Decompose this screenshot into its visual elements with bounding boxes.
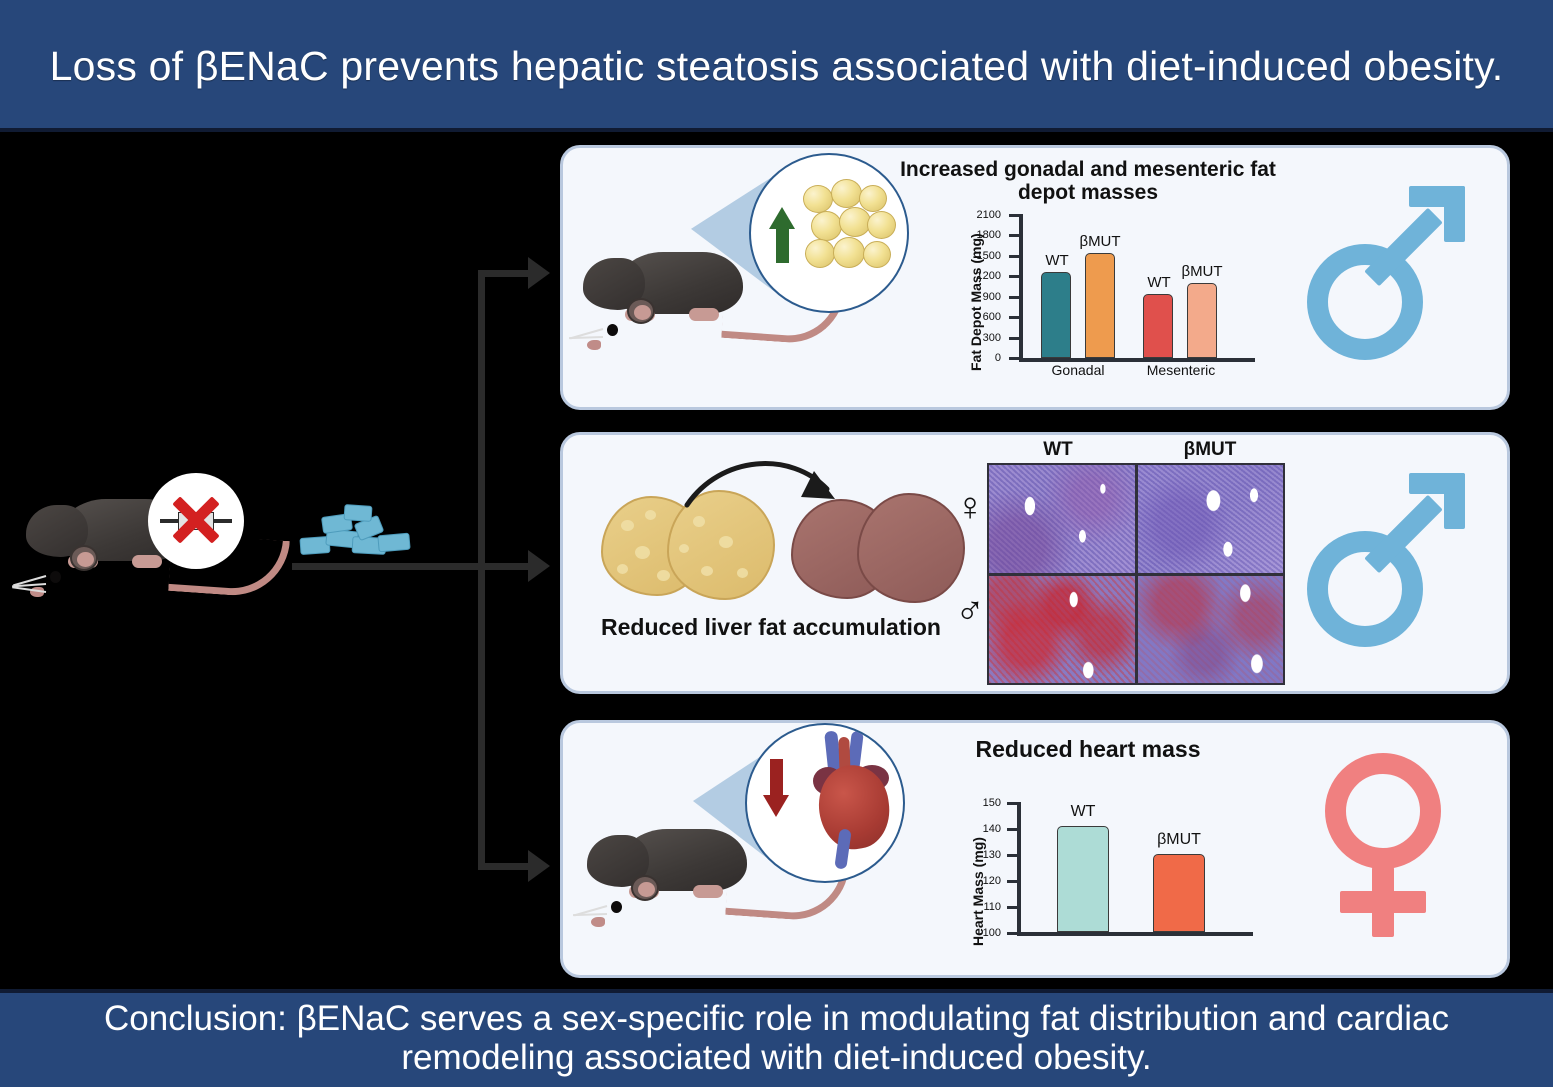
- x-category-label: Mesenteric: [1131, 362, 1231, 378]
- arrow-head-icon: [528, 850, 550, 882]
- heart-illustration-icon: [793, 731, 903, 871]
- y-tick-label: 110: [961, 901, 1001, 913]
- heart-mass-y-axis-title: Heart Mass (mg): [970, 800, 986, 946]
- bar-gonadal-wt: [1041, 272, 1071, 358]
- y-tick-label: 120: [961, 875, 1001, 887]
- high-fat-diet-pellets-icon: [300, 503, 420, 563]
- panel2-caption: Reduced liver fat accumulation: [591, 615, 951, 640]
- y-tick-label: 150: [961, 797, 1001, 809]
- panel-heart-mass: Reduced heart mass: [560, 720, 1510, 978]
- mouse-whisker-icon: [573, 913, 607, 916]
- bar-label: WT: [1053, 803, 1113, 821]
- y-tick-label: 2100: [961, 209, 1001, 221]
- histology-male-wt: [989, 576, 1135, 684]
- histology-col-header-bmut: βMUT: [1135, 439, 1285, 461]
- adipocyte-magnifier-bubble: [749, 153, 909, 313]
- histology-row-label-female: ♀: [955, 487, 985, 527]
- y-tick-label: 100: [961, 927, 1001, 939]
- connector-vertical-line: [478, 270, 485, 870]
- arrow-head-icon: [528, 257, 550, 289]
- histology-female-wt: [989, 465, 1135, 573]
- conclusion-banner: Conclusion: βENaC serves a sex-specific …: [0, 989, 1553, 1087]
- graphical-abstract: Loss of βENaC prevents hepatic steatosis…: [0, 0, 1553, 1087]
- bar-label: βMUT: [1069, 233, 1131, 250]
- bar-label: WT: [1031, 252, 1083, 269]
- y-tick-label: 1500: [961, 250, 1001, 262]
- mouse-eye-icon: [50, 571, 61, 583]
- connector-branch-line: [478, 563, 530, 570]
- mouse-eye-icon: [611, 901, 622, 913]
- y-axis: [1017, 802, 1021, 934]
- heart-magnifier-bubble: [745, 723, 905, 883]
- conclusion-text: Conclusion: βENaC serves a sex-specific …: [40, 999, 1513, 1077]
- y-axis: [1019, 214, 1023, 360]
- bar-label: βMUT: [1143, 831, 1215, 849]
- bar-mesenteric-bmut: [1187, 283, 1217, 358]
- bar-heart-wt: [1057, 826, 1109, 932]
- connector-branch-line: [478, 863, 530, 870]
- red-x-icon: [168, 489, 224, 551]
- bar-mesenteric-wt: [1143, 294, 1173, 358]
- y-tick-label: 0: [961, 352, 1001, 364]
- mouse-whisker-icon: [569, 336, 603, 339]
- knockout-mouse-illustration: [20, 455, 320, 645]
- mouse-head-icon: [583, 258, 645, 310]
- adipocyte-cluster-icon: [801, 179, 905, 291]
- mouse-ear-icon: [631, 875, 659, 901]
- y-tick-label: 900: [961, 291, 1001, 303]
- male-symbol-icon: [1301, 180, 1483, 370]
- panel-fat-depot: Increased gonadal and mesenteric fat dep…: [560, 145, 1510, 410]
- y-tick-label: 130: [961, 849, 1001, 861]
- mouse-eye-icon: [607, 324, 618, 336]
- histology-row-label-male: ♂: [955, 591, 985, 631]
- page-title: Loss of βENaC prevents hepatic steatosis…: [50, 44, 1504, 88]
- mouse-nose-icon: [591, 917, 605, 927]
- bar-gonadal-bmut: [1085, 253, 1115, 358]
- panel1-title: Increased gonadal and mesenteric fat dep…: [893, 158, 1283, 204]
- y-tick-label: 140: [961, 823, 1001, 835]
- y-tick-label: 1200: [961, 270, 1001, 282]
- female-symbol-icon: [1315, 753, 1485, 949]
- y-tick-label: 300: [961, 332, 1001, 344]
- mouse-ear-icon: [627, 298, 655, 324]
- x-axis: [1017, 932, 1253, 936]
- male-symbol-icon: [1301, 467, 1483, 657]
- histology-grid: [987, 463, 1285, 685]
- heart-mass-chart: Heart Mass (mg) 100 110 120 130 140 150 …: [953, 799, 1273, 964]
- connector-branch-line: [478, 270, 530, 277]
- histology-col-header-wt: WT: [983, 439, 1133, 461]
- bar-label: βMUT: [1171, 263, 1233, 280]
- y-tick-label: 600: [961, 311, 1001, 323]
- histology-female-bmut: [1138, 465, 1284, 573]
- mouse-head-icon: [587, 835, 649, 887]
- fat-depot-chart: Fat Depot Mass (mg) 0 300 600 900 1200 1…: [953, 212, 1273, 392]
- panel-liver-fat: Reduced liver fat accumulation WT βMUT ♀…: [560, 432, 1510, 694]
- mouse-foot-icon: [689, 308, 719, 321]
- bar-heart-bmut: [1153, 854, 1205, 932]
- mouse-head-icon: [26, 505, 88, 557]
- knockout-mouse-group: [20, 455, 460, 645]
- arrow-head-icon: [528, 550, 550, 582]
- histology-male-bmut: [1138, 576, 1284, 684]
- gene-knockout-badge: [148, 473, 244, 569]
- y-tick-label: 1800: [961, 229, 1001, 241]
- mouse-ear-icon: [70, 545, 98, 571]
- connector-input-line: [390, 563, 480, 570]
- mouse-foot-icon: [693, 885, 723, 898]
- up-arrow-icon: [769, 207, 795, 263]
- mouse-nose-icon: [587, 340, 601, 350]
- title-banner: Loss of βENaC prevents hepatic steatosis…: [0, 0, 1553, 132]
- x-category-label: Gonadal: [1035, 362, 1121, 378]
- flow-connector: [460, 260, 570, 880]
- down-arrow-icon: [763, 759, 789, 817]
- panel3-title: Reduced heart mass: [893, 737, 1283, 762]
- normal-liver-icon: [791, 493, 971, 613]
